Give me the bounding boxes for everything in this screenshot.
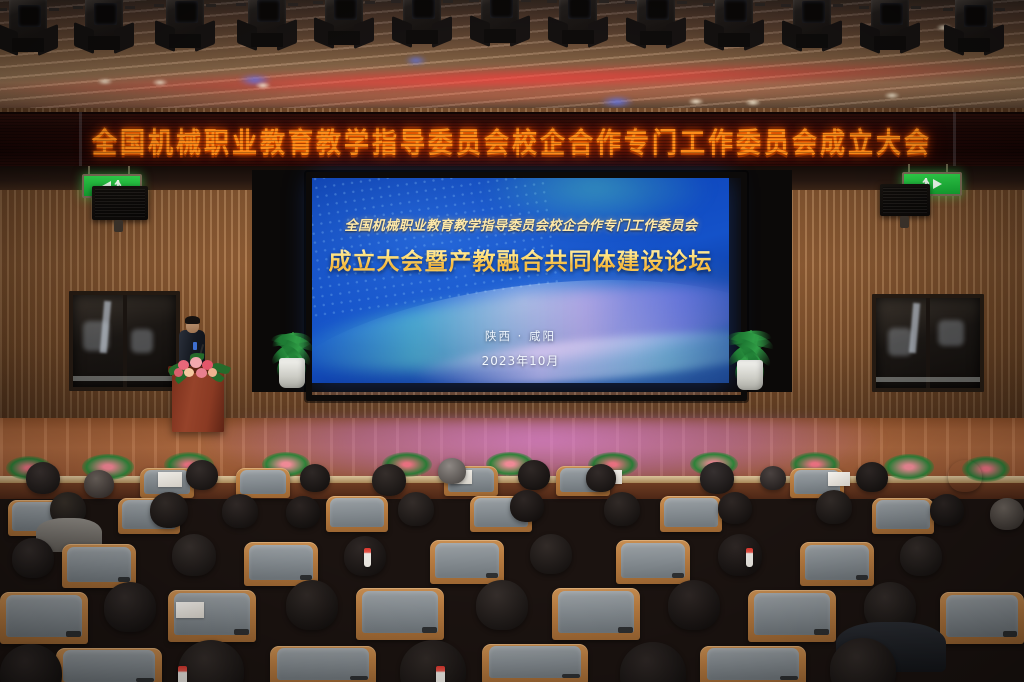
auditorium-seat [660,496,722,532]
ceiling-downlight [152,79,168,86]
conference-hall-photo: 全国机械职业教育教学指导委员会校企合作专门工作委员会成立大会 [0,0,1024,682]
wall-speaker-stand [900,216,909,228]
plant-pot [279,358,305,388]
audience-head [990,498,1024,530]
stage-light [712,0,756,53]
audience-head [104,582,156,632]
control-booth-window-left [69,291,180,391]
audience-head [26,462,60,494]
audience-head [930,494,964,526]
water-bottle [178,666,187,682]
ceiling-downlight [745,99,761,106]
audience-area [0,452,1024,682]
audience-head [518,460,550,490]
name-card [176,602,204,618]
stage-front-flower [884,454,934,480]
audience-head [620,642,686,682]
auditorium-seat [940,592,1024,644]
auditorium-seat [700,646,806,682]
auditorium-seat [326,496,388,532]
audience-head [476,580,528,630]
audience-head [510,490,544,522]
stage-light [82,0,126,56]
audience-head [718,492,752,524]
audience-head [398,492,434,526]
audience-head [586,464,616,492]
audience-head [150,492,188,528]
ceiling [0,0,1024,112]
ceiling-downlight [97,78,113,85]
audience-head [186,460,218,490]
stage-light [790,0,834,54]
audience-head [530,534,572,574]
audience-head [12,538,54,578]
speaker-hair [185,316,200,324]
audience-head [438,458,466,484]
ceiling-downlight [688,98,704,105]
wall-speaker-right [880,184,930,216]
auditorium-seat [356,588,444,640]
audience-head [700,462,734,494]
stage-light [163,0,207,54]
water-bottle [746,548,753,567]
auditorium-seat [430,540,504,584]
podium-flower-arrangement [168,352,230,382]
audience-head [400,640,466,682]
audience-head [900,536,942,576]
water-bottle [364,548,371,567]
auditorium-seat [800,542,874,586]
banner-support-post [953,112,956,166]
name-card [828,472,850,486]
wall-speaker-stand [114,220,123,232]
ceiling-blue-accent-light [600,96,634,108]
audience-head [372,464,406,496]
led-banner-scanlines [0,114,1024,168]
auditorium-seat [482,644,588,682]
stage-light [952,0,996,58]
potted-plant-right [718,298,782,390]
ceiling-blue-accent-light [405,56,427,65]
wall-speaker-left [92,186,148,220]
auditorium-seat [552,588,640,640]
auditorium-seat [0,592,88,644]
stage-light [478,0,522,49]
stage-light [868,0,912,56]
projection-screen-frame [306,172,747,401]
stage-light [6,0,50,58]
audience-head [668,580,720,630]
banner-support-post [79,112,82,166]
audience-head [856,462,888,492]
arrow-right-icon [933,179,942,189]
name-card [158,472,182,487]
audience-head [286,496,320,528]
auditorium-seat [872,498,934,534]
stage-light [245,0,289,53]
speaker-badge [193,342,197,350]
stage-light [400,0,444,50]
auditorium-seat [748,590,836,642]
audience-head [816,490,852,524]
audience-head [178,640,244,682]
potted-plant-left [262,302,322,388]
audience-head [286,580,338,630]
stage-light [322,0,366,51]
auditorium-seat [56,648,162,682]
audience-head [948,460,982,492]
audience-head [222,494,258,528]
audience-head [718,534,762,576]
audience-head [300,464,330,492]
audience-head [760,466,786,490]
auditorium-seat [270,646,376,682]
audience-head [172,534,216,576]
audience-head [0,644,62,682]
ceiling-downlight [255,82,271,89]
stage-light [634,0,678,51]
stage-light [556,0,600,50]
audience-head [84,470,114,498]
led-banner: 全国机械职业教育教学指导委员会校企合作专门工作委员会成立大会 [0,112,1024,170]
water-bottle [436,666,445,682]
plant-pot [737,360,763,390]
ceiling-downlight [884,92,900,99]
audience-head [604,492,640,526]
auditorium-seat [616,540,690,584]
control-booth-window-right [872,294,984,392]
